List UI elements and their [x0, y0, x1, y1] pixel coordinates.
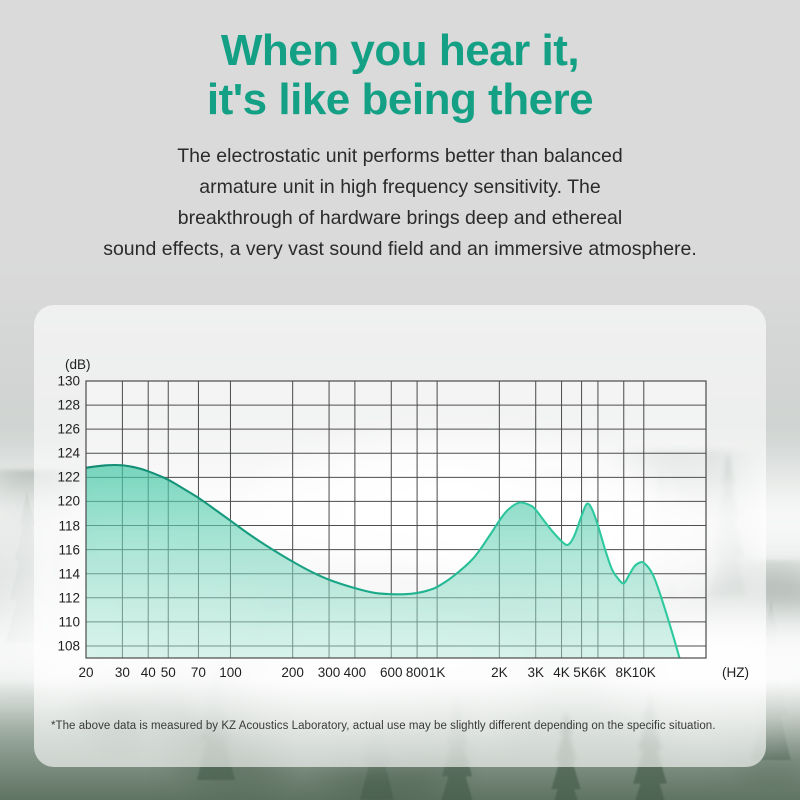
x-axis-tick-label: 5K [573, 665, 590, 680]
chart-footnote: *The above data is measured by KZ Acoust… [51, 720, 715, 732]
chart-svg [86, 381, 706, 658]
y-axis-tick-labels: 130128126124122120118116114112110108 [34, 381, 80, 658]
header: When you hear it, it's like being there … [0, 0, 800, 265]
y-axis-tick-label: 130 [57, 374, 80, 389]
plot-area [86, 381, 706, 658]
x-axis-tick-label: 100 [219, 665, 242, 680]
y-axis-tick-label: 116 [58, 542, 80, 557]
x-axis-tick-label: 400 [344, 665, 367, 680]
subtitle-line-3: breakthrough of hardware brings deep and… [14, 203, 786, 234]
subtitle-line-4: sound effects, a very vast sound field a… [14, 234, 786, 265]
x-axis-unit-label: (HZ) [722, 665, 749, 680]
x-axis-tick-label: 800 [406, 665, 429, 680]
y-axis-tick-label: 112 [58, 590, 80, 605]
x-axis-tick-label: 4K [553, 665, 570, 680]
y-axis-tick-label: 128 [57, 398, 80, 413]
y-axis-tick-label: 108 [57, 638, 80, 653]
x-axis-tick-label: 50 [161, 665, 176, 680]
page-subtitle: The electrostatic unit performs better t… [0, 141, 800, 265]
x-axis-tick-label: 200 [281, 665, 304, 680]
x-axis-tick-label: 10K [632, 665, 656, 680]
y-axis-tick-label: 120 [57, 494, 80, 509]
x-axis-tick-label: 6K [590, 665, 607, 680]
x-axis-tick-label: 600 [380, 665, 403, 680]
x-axis-tick-labels: 20304050701002003004006008001K2K3K4K5K6K… [86, 665, 706, 685]
y-axis-tick-label: 124 [57, 446, 80, 461]
y-axis-unit-label: (dB) [65, 357, 91, 372]
x-axis-tick-label: 8K [615, 665, 632, 680]
page-root: When you hear it, it's like being there … [0, 0, 800, 800]
y-axis-tick-label: 114 [58, 566, 80, 581]
x-axis-tick-label: 40 [141, 665, 156, 680]
title-line-2: it's like being there [0, 75, 800, 124]
frequency-response-chart: (dB) 13012812612412212011811611411211010… [34, 305, 766, 767]
x-axis-tick-label: 2K [491, 665, 508, 680]
title-line-1: When you hear it, [0, 26, 800, 75]
y-axis-tick-label: 122 [57, 470, 80, 485]
page-title: When you hear it, it's like being there [0, 0, 800, 124]
chart-card: (dB) 13012812612412212011811611411211010… [34, 305, 766, 767]
y-axis-tick-label: 118 [58, 518, 80, 533]
x-axis-tick-label: 300 [318, 665, 341, 680]
subtitle-line-1: The electrostatic unit performs better t… [14, 141, 786, 172]
x-axis-tick-label: 30 [115, 665, 130, 680]
y-axis-tick-label: 110 [58, 614, 80, 629]
x-axis-tick-label: 1K [429, 665, 446, 680]
subtitle-line-2: armature unit in high frequency sensitiv… [14, 172, 786, 203]
x-axis-tick-label: 70 [191, 665, 206, 680]
y-axis-tick-label: 126 [57, 422, 80, 437]
x-axis-tick-label: 3K [527, 665, 544, 680]
x-axis-tick-label: 20 [78, 665, 93, 680]
